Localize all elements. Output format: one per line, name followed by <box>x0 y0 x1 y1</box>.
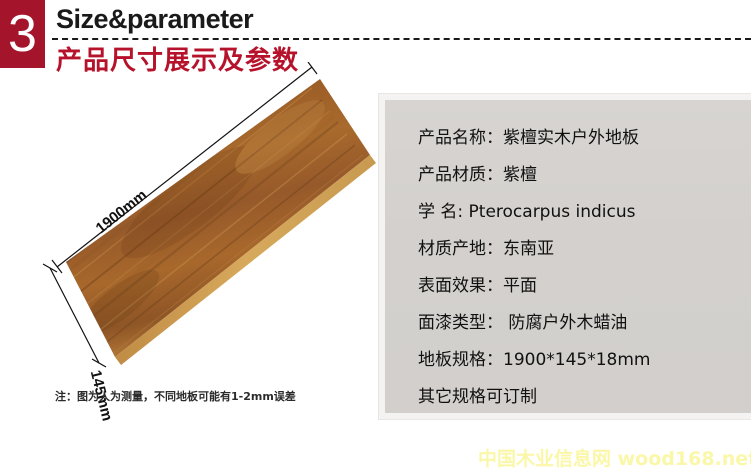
site-watermark: 中国木业信息网 wood168.net <box>478 444 751 471</box>
spec-row: 面漆类型： 防腐户外木蜡油 <box>418 315 751 332</box>
specification-list: 产品名称：紫檀实木户外地板 产品材质：紫檀 学 名: Pterocarpus i… <box>385 100 751 413</box>
step-number-badge: 3 <box>0 0 45 68</box>
spec-row: 地板规格：1900*145*18mm <box>418 352 751 369</box>
product-figure: 1900mm 145mm <box>40 62 380 382</box>
spec-row: 材质产地：东南亚 <box>418 241 751 258</box>
measurement-note: 注：图为人为测量，不同地板可能有1-2mm误差 <box>55 388 296 404</box>
spec-row: 产品名称：紫檀实木户外地板 <box>418 130 751 147</box>
spec-row: 产品材质：紫檀 <box>418 167 751 184</box>
spec-row: 学 名: Pterocarpus indicus <box>418 204 751 221</box>
specification-panel: 产品名称：紫檀实木户外地板 产品材质：紫檀 学 名: Pterocarpus i… <box>378 93 751 420</box>
spec-row: 表面效果：平面 <box>418 278 751 295</box>
plank-illustration <box>40 62 380 382</box>
spec-row: 其它规格可订制 <box>418 389 751 406</box>
page-title-english: Size&parameter <box>56 4 253 35</box>
product-spec-slide: 3 Size&parameter 产品尺寸展示及参数 <box>0 0 751 474</box>
